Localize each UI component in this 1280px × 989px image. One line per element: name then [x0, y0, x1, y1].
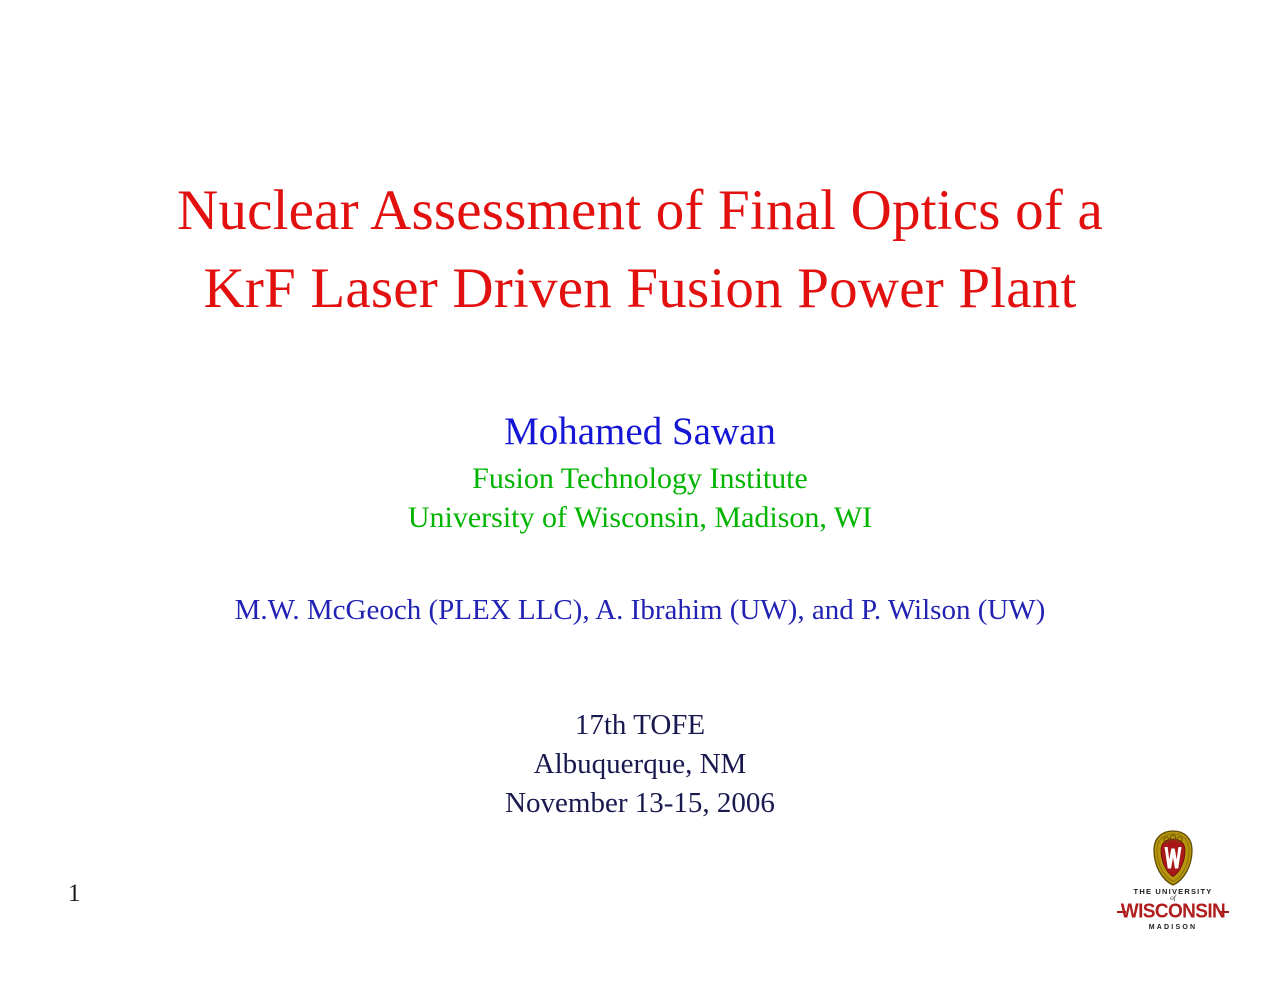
- wordmark-madison: MADISON: [1117, 923, 1229, 932]
- conference-block: 17th TOFE Albuquerque, NM November 13-15…: [0, 706, 1280, 823]
- conference-name: 17th TOFE: [0, 706, 1280, 745]
- title-line-2: KrF Laser Driven Fusion Power Plant: [0, 250, 1280, 328]
- conference-dates: November 13-15, 2006: [0, 784, 1280, 823]
- wordmark-wisconsin: WISCONSIN: [1117, 901, 1229, 923]
- presenter-name: Mohamed Sawan: [0, 408, 1280, 456]
- affiliation-line-2: University of Wisconsin, Madison, WI: [0, 498, 1280, 537]
- uw-wordmark: THE UNIVERSITY of WISCONSIN MADISON: [1117, 887, 1229, 932]
- affiliation-block: Fusion Technology Institute University o…: [0, 459, 1280, 537]
- conference-location: Albuquerque, NM: [0, 745, 1280, 784]
- coauthors-line: M.W. McGeoch (PLEX LLC), A. Ibrahim (UW)…: [0, 591, 1280, 629]
- title-line-1: Nuclear Assessment of Final Optics of a: [0, 172, 1280, 250]
- page-number: 1: [68, 880, 81, 908]
- slide-title: Nuclear Assessment of Final Optics of a …: [0, 172, 1280, 328]
- presentation-slide: Nuclear Assessment of Final Optics of a …: [0, 0, 1280, 989]
- wordmark-main-row: WISCONSIN: [1117, 902, 1229, 922]
- crest-wrap: [1117, 830, 1229, 886]
- university-logo: THE UNIVERSITY of WISCONSIN MADISON: [1117, 830, 1229, 930]
- affiliation-line-1: Fusion Technology Institute: [0, 459, 1280, 498]
- uw-crest-icon: [1151, 830, 1195, 886]
